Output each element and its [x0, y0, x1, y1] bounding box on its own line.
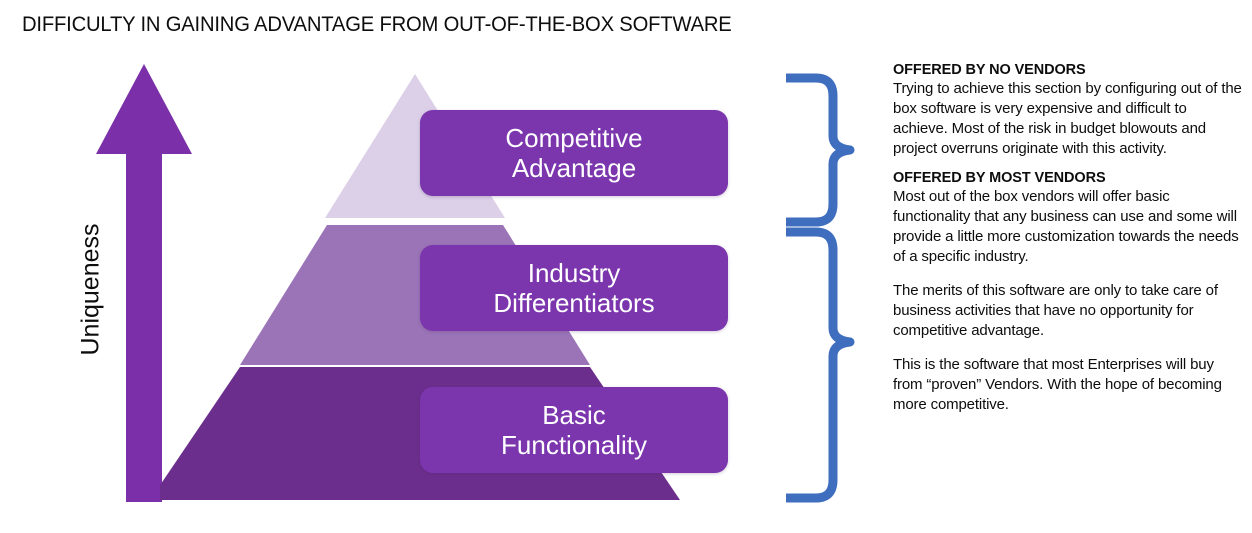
level-label-line1: Basic	[542, 400, 606, 430]
level-label-line1: Industry	[528, 258, 621, 288]
level-box-industry-differentiators[interactable]: Industry Differentiators	[420, 245, 728, 331]
note-heading: OFFERED BY NO VENDORS	[893, 62, 1243, 78]
level-label-line2: Differentiators	[493, 288, 654, 318]
level-label-line2: Functionality	[501, 430, 647, 460]
page-title: DIFFICULTY IN GAINING ADVANTAGE FROM OUT…	[22, 12, 732, 37]
level-label-line1: Competitive	[505, 123, 642, 153]
curly-brace-icon-top	[786, 78, 850, 222]
level-box-basic-functionality[interactable]: Basic Functionality	[420, 387, 728, 473]
note-paragraph: Most out of the box vendors will offer b…	[893, 187, 1243, 267]
brace-group	[778, 60, 882, 520]
note-offered-by-most-vendors: OFFERED BY MOST VENDORS Most out of the …	[893, 170, 1243, 415]
level-box-competitive-advantage[interactable]: Competitive Advantage	[420, 110, 728, 196]
note-paragraph: Trying to achieve this section by config…	[893, 79, 1243, 159]
note-paragraph: The merits of this software are only to …	[893, 281, 1243, 341]
note-offered-by-no-vendors: OFFERED BY NO VENDORS Trying to achieve …	[893, 62, 1243, 159]
level-label-line2: Advantage	[512, 153, 636, 183]
note-heading: OFFERED BY MOST VENDORS	[893, 170, 1243, 186]
note-paragraph: This is the software that most Enterpris…	[893, 355, 1243, 415]
notes-column: OFFERED BY NO VENDORS Trying to achieve …	[893, 62, 1243, 426]
curly-brace-icon-bottom	[786, 232, 850, 498]
axis-label: Uniqueness	[77, 190, 106, 390]
